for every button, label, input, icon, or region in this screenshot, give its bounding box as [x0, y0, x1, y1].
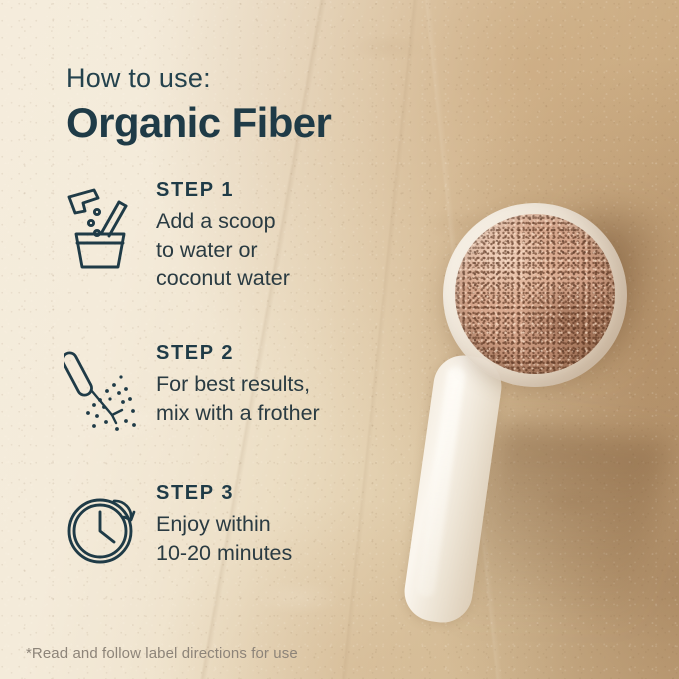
- kicker-text: How to use:: [66, 63, 211, 94]
- glass-with-straw-and-scoop-icon: [64, 184, 136, 270]
- step-3-icon-slot: [64, 481, 156, 569]
- step-3-label: STEP 3: [156, 483, 424, 503]
- milk-frother-icon: [64, 347, 140, 433]
- step-3-body: STEP 3 Enjoy within 10-20 minutes: [156, 481, 424, 567]
- step-2-text: For best results, mix with a frother: [156, 370, 424, 427]
- step-item-3: STEP 3 Enjoy within 10-20 minutes: [64, 481, 424, 569]
- step-item-1: STEP 1 Add a scoop to water or coconut w…: [64, 178, 424, 293]
- step-3-text: Enjoy within 10-20 minutes: [156, 510, 424, 567]
- scoop-rim-shading: [443, 203, 627, 387]
- footnote-disclaimer: *Read and follow label directions for us…: [26, 645, 298, 662]
- step-2-icon-slot: [64, 341, 156, 433]
- how-to-use-infographic: How to use: Organic Fiber: [0, 0, 679, 679]
- step-1-label: STEP 1: [156, 180, 424, 200]
- step-1-body: STEP 1 Add a scoop to water or coconut w…: [156, 178, 424, 293]
- step-1-text: Add a scoop to water or coconut water: [156, 207, 424, 293]
- clock-with-arrow-icon: [64, 487, 146, 569]
- step-item-2: STEP 2 For best results, mix with a frot…: [64, 341, 424, 433]
- page-title: Organic Fiber: [66, 99, 331, 147]
- step-1-icon-slot: [64, 178, 156, 270]
- step-2-label: STEP 2: [156, 343, 424, 363]
- step-2-body: STEP 2 For best results, mix with a frot…: [156, 341, 424, 427]
